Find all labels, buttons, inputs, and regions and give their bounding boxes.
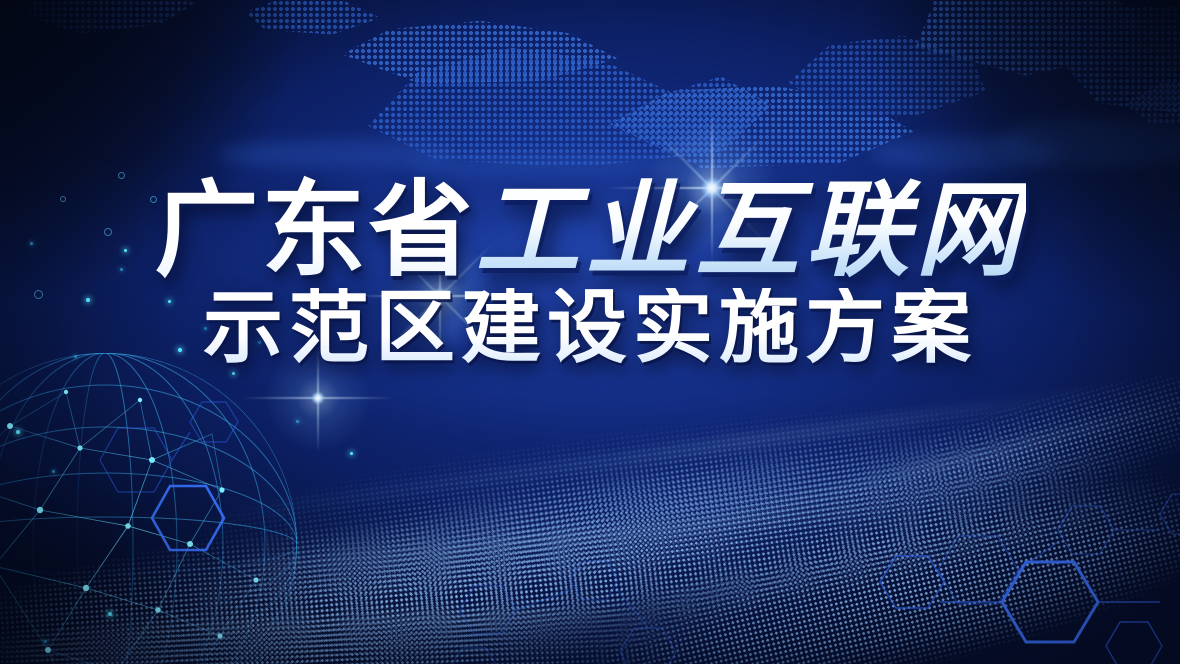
poster-canvas: 广东省工业互联网 示范区建设实施方案 bbox=[0, 0, 1180, 664]
title-block: 广东省工业互联网 示范区建设实施方案 bbox=[0, 178, 1180, 368]
main-title-part-keyword: 工业互联网 bbox=[476, 168, 1026, 291]
main-title: 广东省工业互联网 bbox=[154, 178, 1025, 282]
main-title-part-province: 广东省 bbox=[154, 168, 475, 291]
subtitle: 示范区建设实施方案 bbox=[203, 288, 977, 368]
